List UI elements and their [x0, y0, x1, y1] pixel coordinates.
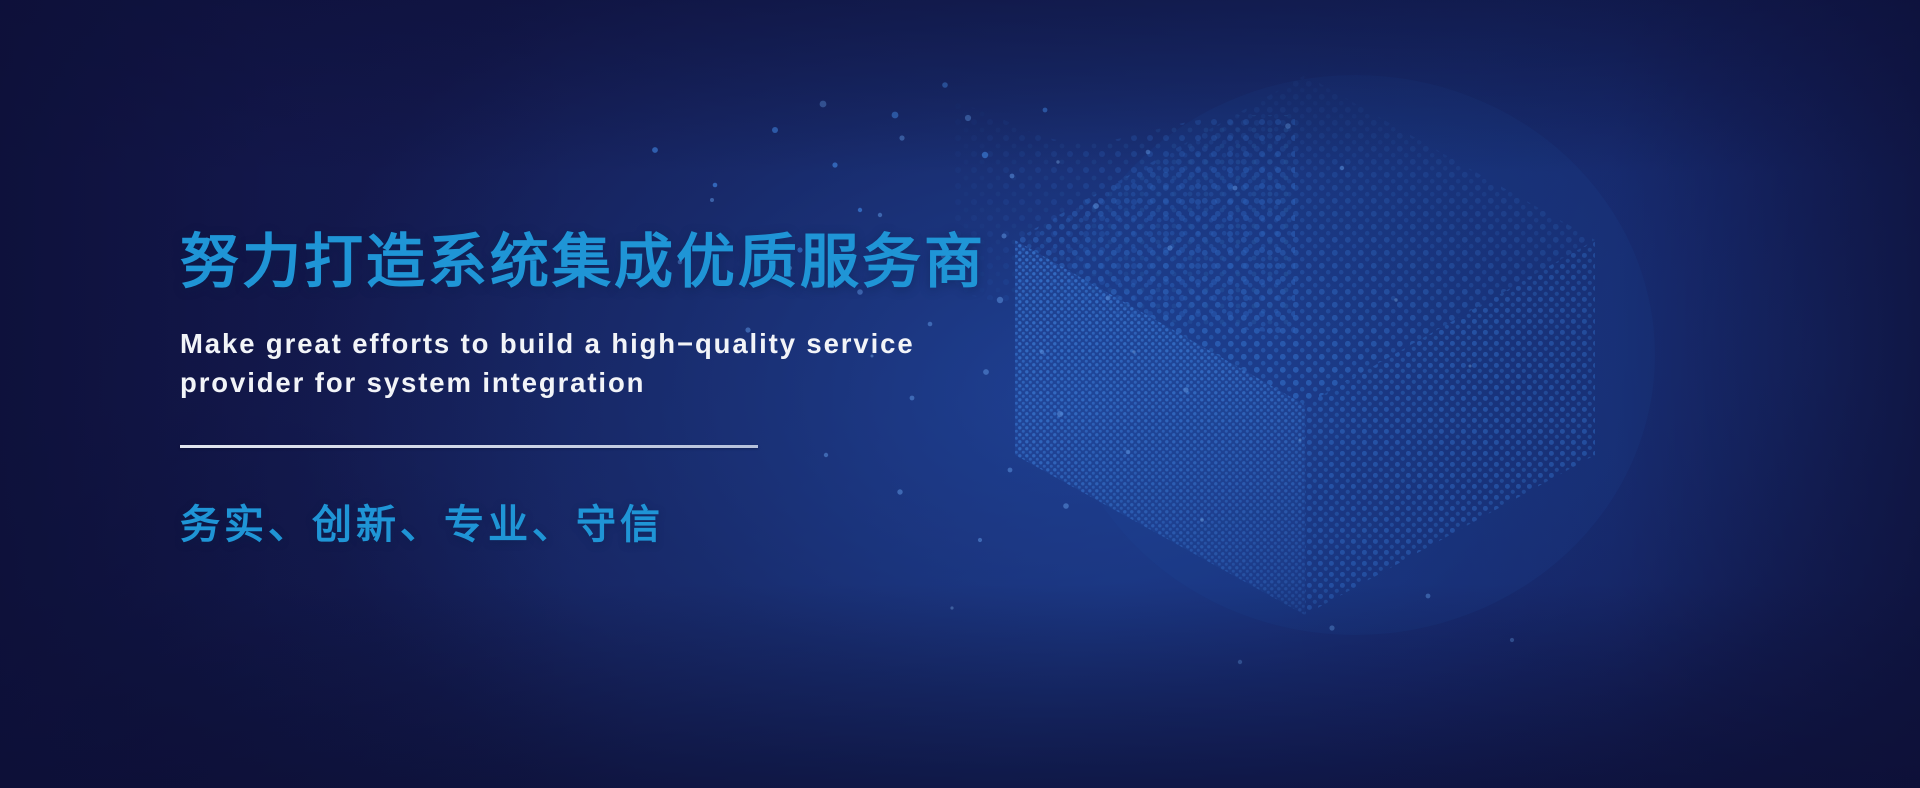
hero-content: 努力打造系统集成优质服务商 Make great efforts to buil… [180, 0, 1180, 788]
subtitle-line-2: provider for system integration [180, 363, 1050, 402]
page-title: 努力打造系统集成优质服务商 [180, 232, 1180, 294]
horizontal-divider [180, 445, 758, 448]
subtitle-line-1: Make great efforts to build a high−quali… [180, 324, 1050, 363]
tagline: 务实、创新、专业、守信 [180, 492, 1180, 550]
hero-banner: 努力打造系统集成优质服务商 Make great efforts to buil… [0, 0, 1920, 788]
subtitle: Make great efforts to build a high−quali… [180, 324, 1050, 402]
